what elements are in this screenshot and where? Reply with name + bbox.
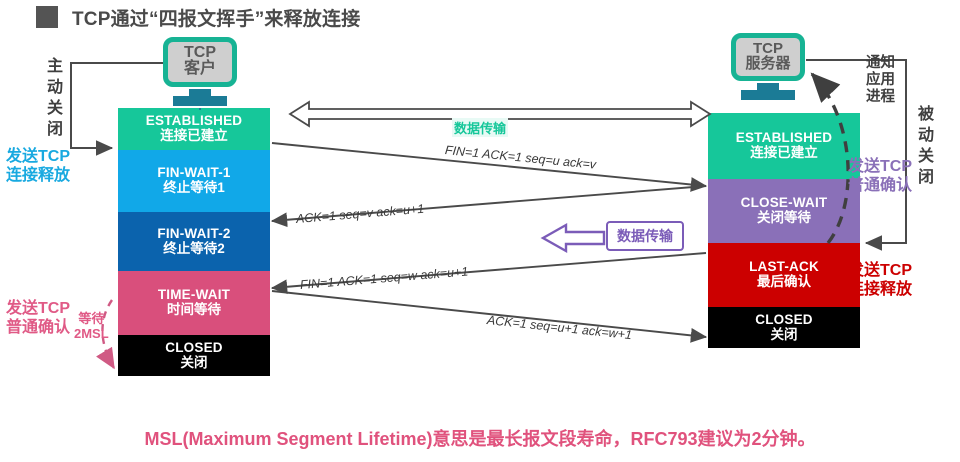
line2: 应用 — [866, 72, 895, 89]
line1: 发送TCP — [6, 148, 70, 167]
line2: 普通确认 — [6, 319, 70, 338]
left-send-tcp-release-label: 发送TCP 连接释放 — [6, 148, 70, 186]
data-transfer-top-label: 数据传输 — [452, 118, 508, 137]
line1: 发送TCP — [6, 300, 70, 319]
tcp-four-way-handshake-diagram: TCP通过“四报文挥手”来释放连接 TCP 客户 TCP 服务器 ESTABLI… — [0, 0, 960, 462]
notify-app-dashed-arrow — [812, 74, 848, 243]
data-transfer-mid-label: 数据传输 — [606, 221, 684, 251]
line2: 普通确认 — [848, 177, 912, 196]
right-send-tcp-release-label: 发送TCP 连接释放 — [848, 262, 912, 300]
notify-application-process-label: 通知 应用 进程 — [866, 55, 895, 106]
line1: 通知 — [866, 55, 895, 72]
right-send-tcp-ack-label: 发送TCP 普通确认 — [848, 158, 912, 196]
line2: 连接释放 — [848, 281, 912, 300]
active-close-bracket — [71, 63, 163, 148]
diagram-connectors — [0, 0, 960, 462]
footer-note: MSL(Maximum Segment Lifetime)意思是最长报文段寿命，… — [0, 425, 960, 451]
data-transfer-left-block-arrow — [543, 225, 604, 251]
line1: 发送TCP — [848, 262, 912, 281]
line2: 2MSL — [74, 327, 109, 342]
active-close-label: 主动关闭 — [44, 57, 60, 141]
wait-2msl-label: 等待 2MSL — [74, 312, 109, 341]
line1: 发送TCP — [848, 158, 912, 177]
passive-close-label: 被动关闭 — [915, 105, 931, 189]
left-send-tcp-ack-label: 发送TCP 普通确认 — [6, 300, 70, 338]
line1: 等待 — [74, 312, 109, 327]
line2: 连接释放 — [6, 167, 70, 186]
line3: 进程 — [866, 89, 895, 106]
